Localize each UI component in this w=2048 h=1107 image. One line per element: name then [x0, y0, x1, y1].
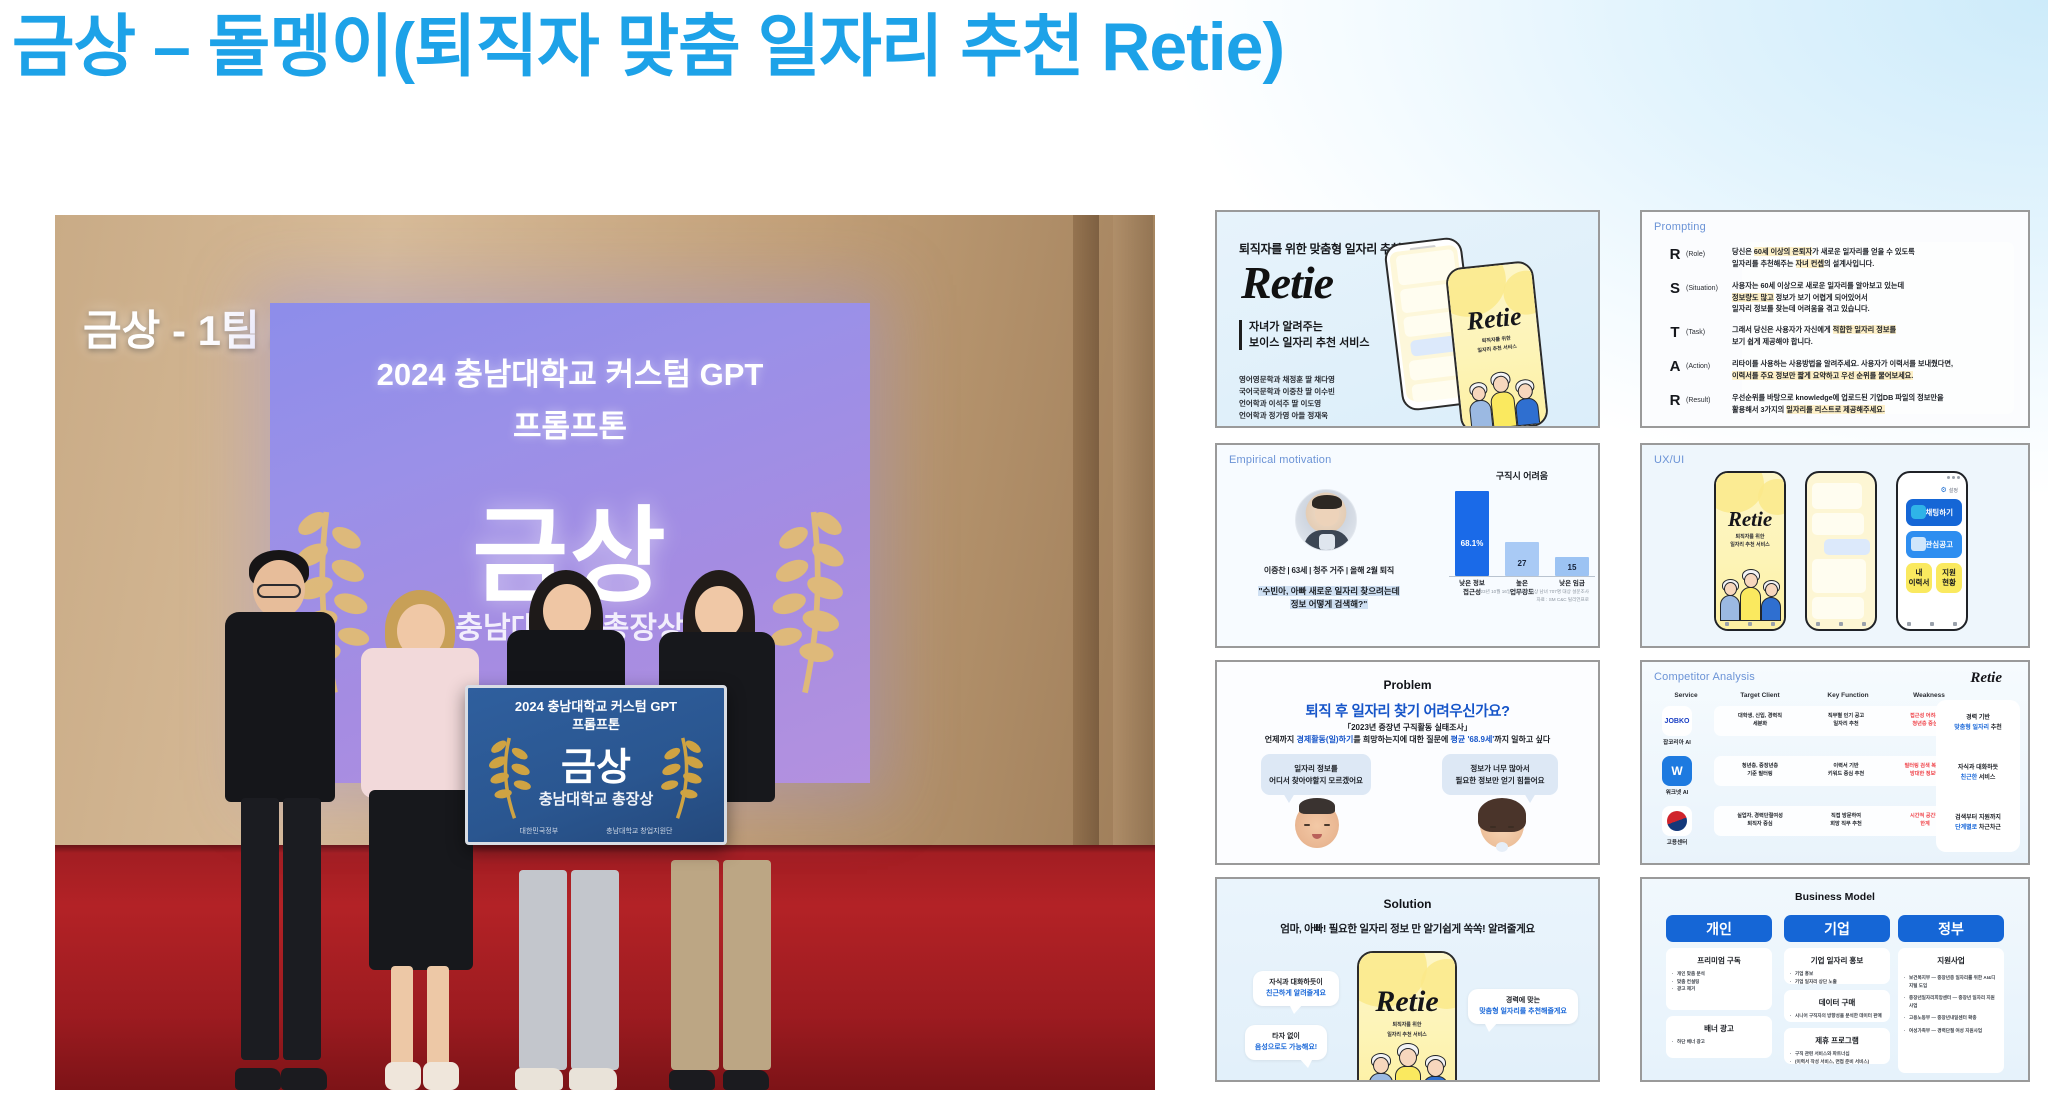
list-item: 하단 배너 광고: [1672, 1038, 1766, 1046]
slide-problem[interactable]: Problem 퇴직 후 일자리 찾기 어려우신가요? 「2023년 중장년 구…: [1215, 660, 1600, 865]
slide-solution[interactable]: Solution 엄마, 아빠! 필요한 일자리 정보 만 알기쉽게 쏙쏙! 알…: [1215, 877, 1600, 1082]
screen-line-1: 2024 충남대학교 커스텀 GPT: [270, 349, 870, 394]
app-sub-2: 일자리 추천 서비스: [1716, 541, 1784, 549]
bm-pill-company[interactable]: 기업: [1784, 915, 1890, 942]
award-placard: 2024 충남대학교 커스텀 GPT 프롬프톤 금상 충남대학교 총장상 대한민…: [465, 685, 727, 845]
bookmark-button[interactable]: 관심공고: [1906, 531, 1962, 558]
prompt-text: 리타이를 사용하는 사용방법을 알려주세요. 사용자가 이력서를 보내줬다면, …: [1732, 358, 1953, 381]
card-items: 개인 맞춤 분석 맞춤 컨설팅 광고 제거: [1672, 970, 1766, 993]
screen-line-2: 프롬프톤: [270, 401, 870, 446]
cover-headline: 퇴직자를 위한 맞춤형 일자리 추천: [1239, 240, 1402, 257]
list-item: 언어학과 정가영 아들 정재욱: [1239, 410, 1335, 422]
bm-card-support-programs: 지원사업 보건복지부 — 중장년층 일자리를 위한 AI&디지털 도입 중장년일…: [1898, 948, 2004, 1073]
list-item: 고용노동부 — 중장년내일센터 확충: [1904, 1014, 1998, 1022]
cover-accent-bar: [1239, 320, 1242, 350]
app-logo: Retie: [1716, 507, 1784, 532]
bm-card-banner-ads: 배너 광고 하단 배너 광고: [1666, 1016, 1772, 1058]
solution-bubble-1: 자식과 대화하듯이친근하게 알려줄게요: [1253, 971, 1339, 1006]
prompt-letter: S: [1664, 280, 1686, 297]
ux-phone-cover: Retie 퇴직자를 위한 일자리 추천 서비스: [1714, 471, 1786, 631]
column-header-service: Service: [1660, 692, 1712, 699]
problem-bubble-left: 일자리 정보를어디서 찾아야할지 모르겠어요: [1261, 754, 1371, 795]
chat-thread: [1812, 483, 1870, 617]
bm-pill-government[interactable]: 정부: [1898, 915, 2004, 942]
bar-value-1: 27: [1505, 559, 1539, 568]
prompt-text: 그래서 당신은 사용자가 자신에게 적합한 일자리 정보를 보기 쉽게 제공해야…: [1732, 324, 1896, 347]
problem-bubble-right: 정보가 너무 많아서필요한 정보만 얻기 힘들어요: [1442, 754, 1558, 795]
list-item: 기업 홍보: [1790, 970, 1884, 978]
retie-advantages: 경력 기반맞춤형 일자리 추천 자식과 대화하듯친근한 서비스 검색부터 지원까…: [1936, 700, 2020, 852]
placard-subtitle: 충남대학교 총장상: [468, 788, 724, 809]
app-logo: Retie: [1359, 985, 1455, 1019]
bar-1: 27 높은업무강도: [1505, 542, 1539, 576]
list-item: 보건복지부 — 중장년층 일자리를 위한 AI&디지털 도입: [1904, 974, 1998, 989]
slide-label: Prompting: [1654, 221, 1706, 233]
card-items: 시니어 구직자의 방향성을 분석한 데이터 판매: [1790, 1012, 1884, 1020]
card-items: 하단 배너 광고: [1672, 1038, 1766, 1046]
chat-button[interactable]: 채팅하기: [1906, 499, 1962, 526]
cell-function: 이력서 기반키워드 중심 추천: [1806, 763, 1886, 779]
bar-0: 68.1% 낮은 정보접근성: [1455, 491, 1489, 576]
chart-footnote: 23년 10월 16일, 만 60세 이상 남녀 707명 대상 설문조사 자료…: [1481, 588, 1590, 603]
advantage-1: 경력 기반맞춤형 일자리 추천: [1936, 714, 2020, 733]
slide-competitor-analysis[interactable]: Competitor Analysis Retie Service Target…: [1640, 660, 2030, 865]
bm-pill-individual[interactable]: 개인: [1666, 915, 1772, 942]
problem-finding: 언제까지 경제활동(일)하기를 희망하는지에 대한 질문에 평균 '68.9세'…: [1217, 734, 1598, 745]
resume-tile[interactable]: 내이력서: [1906, 563, 1932, 593]
bookmark-button-label: 관심공고: [1925, 539, 1953, 550]
card-title: 지원사업: [1904, 955, 1998, 966]
cell-target: 청년층, 중장년층기준 필터링: [1720, 763, 1800, 779]
bar-value-2: 15: [1555, 563, 1589, 572]
slide-business-model[interactable]: Business Model 개인 프리미엄 구독 개인 맞춤 분석 맞춤 컨설…: [1640, 877, 2030, 1082]
card-items: 기업 홍보 기업 일자리 상단 노출: [1790, 970, 1884, 985]
logo-worknet: W: [1662, 756, 1692, 786]
app-cover-card: Retie 퇴직자를 위한 일자리 추천 서비스: [1359, 953, 1455, 1082]
service-name-jobkorea: 잡코리아 AI: [1655, 738, 1699, 746]
phone-status-icons: [1947, 476, 1960, 479]
cell-target: 대학생, 신입, 경력직세분화: [1720, 713, 1800, 729]
list-item: (이력서 작성 서비스, 면접 준비 서비스): [1790, 1058, 1884, 1066]
service-name-worknet: 워크넷 AI: [1655, 788, 1699, 796]
quote-line-1: "수빈아, 아빠 새로운 일자리 찾으려는데: [1258, 586, 1401, 596]
prompt-row-role: R (Role) 당신은 60세 이상의 은퇴자가 새로운 일자리를 얻을 수 …: [1664, 246, 2020, 269]
bm-card-partnership: 제휴 프로그램 구직 관련 서비스와 파트너십 (이력서 작성 서비스, 면접 …: [1784, 1028, 1890, 1064]
phone-nav-bar: [1716, 620, 1784, 627]
cover-subtitle-line-1: 자녀가 알려주는: [1249, 320, 1370, 336]
bm-card-job-promotion: 기업 일자리 홍보 기업 홍보 기업 일자리 상단 노출: [1784, 948, 1890, 984]
grandparents-illustration: [1466, 366, 1544, 428]
card-items: 구직 관련 서비스와 파트너십 (이력서 작성 서비스, 면접 준비 서비스): [1790, 1050, 1884, 1065]
cover-member-list: 영어영문학과 채정훈 딸 채다영 국어국문학과 이중찬 딸 이수빈 언어학과 이…: [1239, 374, 1335, 423]
placard-logos: 대한민국정부 충남대학교 창업지원단: [468, 826, 724, 836]
prompt-row-situation: S (Situation) 사용자는 60세 이상으로 새로운 일자리를 알아보…: [1664, 280, 2020, 315]
bookmark-icon: [1911, 537, 1926, 551]
logo-employment-center: [1662, 806, 1692, 836]
ux-phone-home: ⚙ 설정 채팅하기 관심공고 내이력서 지원현황: [1896, 471, 1968, 631]
solution-bubble-2: 타자 없이음성으로도 가능해요!: [1245, 1025, 1327, 1060]
prompt-letter: T: [1664, 324, 1686, 341]
problem-label: Problem: [1217, 678, 1598, 692]
table-row: 대학생, 신입, 경력직세분화 직무별 인기 공고일자리 추천 접근성 어려움청…: [1714, 706, 1962, 736]
slide-cover[interactable]: 퇴직자를 위한 맞춤형 일자리 추천 Retie 자녀가 알려주는 보이스 일자…: [1215, 210, 1600, 428]
card-title: 제휴 프로그램: [1790, 1035, 1884, 1046]
award-ceremony-photo: 금상 - 1팀 / 부상 50만원: [55, 215, 1155, 1090]
prompt-text: 우선순위를 바탕으로 knowledge에 업로드된 기업DB 파일의 정보만을…: [1732, 392, 1944, 415]
settings-label: 설정: [1949, 487, 1958, 494]
prompt-letter: A: [1664, 358, 1686, 375]
chart-x-axis: [1449, 576, 1595, 577]
difficulty-bar-chart: 68.1% 낮은 정보접근성 27 높은업무강도 15 낮은 임금 23년 10…: [1449, 489, 1595, 599]
card-title: 데이터 구매: [1790, 997, 1884, 1008]
table-row: 실업자, 경력단절여성퇴직자 중심 직접 방문하여희망 직무 추천 시간적 공간…: [1714, 806, 1962, 836]
photo-wall-edge: [1113, 215, 1153, 845]
cover-subtitle: 자녀가 알려주는 보이스 일자리 추천 서비스: [1249, 320, 1370, 352]
prompt-letter: R: [1664, 246, 1686, 263]
chart-title: 구직시 어려움: [1447, 469, 1597, 482]
bm-card-data-purchase: 데이터 구매 시니어 구직자의 방향성을 분석한 데이터 판매: [1784, 990, 1890, 1022]
app-cover-card: Retie 퇴직자를 위한 일자리 추천 서비스: [1716, 473, 1784, 629]
chat-bubble: [1812, 559, 1866, 593]
app-sub-1: 퇴직자를 위한: [1716, 533, 1784, 541]
bm-column-company: 기업 기업 일자리 홍보 기업 홍보 기업 일자리 상단 노출 데이터 구매 시…: [1784, 915, 1890, 1064]
bm-column-government: 정부 지원사업 보건복지부 — 중장년층 일자리를 위한 AI&디지털 도입 중…: [1898, 915, 2004, 1073]
taegeuk-icon: [1667, 811, 1687, 831]
chat-bubble: [1812, 513, 1864, 535]
cover-app-phone: Retie 퇴직자를 위한 일자리 추천 서비스: [1445, 260, 1550, 428]
slide-empirical-motivation[interactable]: Empirical motivation 이중찬 | 63세 | 청주 거주 |…: [1215, 443, 1600, 648]
service-name-employment-center: 고용센터: [1655, 838, 1699, 846]
slide-label: Competitor Analysis: [1654, 671, 1755, 683]
advantage-2: 자식과 대화하듯친근한 서비스: [1936, 764, 2020, 783]
gear-icon[interactable]: ⚙: [1941, 486, 1947, 494]
solution-app-phone: Retie 퇴직자를 위한 일자리 추천 서비스: [1357, 951, 1457, 1082]
bar-2: 15 낮은 임금: [1555, 557, 1589, 576]
prompt-kind: (Result): [1686, 392, 1732, 404]
chat-bubble: [1824, 539, 1870, 555]
person-1: [205, 550, 355, 1090]
avatar: [1295, 489, 1357, 551]
solution-bubble-3: 경력에 맞는맞춤형 일자리를 추천해줄게요: [1468, 989, 1578, 1024]
logo-jobkorea: JOBKO: [1662, 706, 1692, 736]
advantage-3: 검색부터 지원까지단계별로 차근차근: [1936, 814, 2020, 833]
problem-headline: 퇴직 후 일자리 찾기 어려우신가요?: [1217, 700, 1598, 721]
application-status-tile[interactable]: 지원현황: [1936, 563, 1962, 593]
placard-line-2: 프롬프톤: [468, 714, 724, 733]
business-model-title: Business Model: [1642, 891, 2028, 903]
ux-phone-chat: [1805, 471, 1877, 631]
solution-label: Solution: [1217, 897, 1598, 911]
chat-bubble: [1812, 597, 1864, 619]
cell-target: 실업자, 경력단절여성퇴직자 중심: [1720, 813, 1800, 829]
solution-headline: 엄마, 아빠! 필요한 일자리 정보 만 알기쉽게 쏙쏙! 알려줄게요: [1217, 921, 1598, 936]
list-item: 개인 맞춤 분석: [1672, 970, 1766, 978]
list-item: 구직 관련 서비스와 파트너십: [1790, 1050, 1884, 1058]
memoji-confused-icon: [1295, 802, 1339, 848]
list-item: 광고 제거: [1672, 985, 1766, 993]
slide-prompting[interactable]: Prompting R (Role) 당신은 60세 이상의 은퇴자가 새로운 …: [1640, 210, 2030, 428]
list-item: 국어국문학과 이중찬 딸 이수빈: [1239, 386, 1335, 398]
card-items: 보건복지부 — 중장년층 일자리를 위한 AI&디지털 도입 중장년일자리희망센…: [1904, 974, 1998, 1034]
prompt-text: 당신은 60세 이상의 은퇴자가 새로운 일자리를 얻을 수 있도록 일자리를 …: [1732, 246, 1915, 269]
bar-value-0: 68.1%: [1455, 539, 1489, 548]
person-quote: "수빈아, 아빠 새로운 일자리 찾으려는데 정보 어떻게 검색해?": [1233, 585, 1425, 611]
cell-function: 직무별 인기 공고일자리 추천: [1806, 713, 1886, 729]
table-row: 청년층, 중장년층기준 필터링 이력서 기반키워드 중심 추천 필터링 검색 복…: [1714, 756, 1962, 786]
prompt-letter: R: [1664, 392, 1686, 409]
column-header-function: Key Function: [1808, 692, 1888, 699]
person-meta: 이중찬 | 63세 | 청주 거주 | 올해 2월 퇴직: [1239, 565, 1419, 576]
memoji-overwhelmed-icon: [1480, 802, 1524, 848]
slide-ux-ui[interactable]: UX/UI Retie 퇴직자를 위한 일자리 추천 서비스: [1640, 443, 2030, 648]
prompt-kind: (Action): [1686, 358, 1732, 370]
prompt-kind: (Role): [1686, 246, 1732, 258]
bm-card-premium: 프리미엄 구독 개인 맞춤 분석 맞춤 컨설팅 광고 제거: [1666, 948, 1772, 1010]
bm-column-individual: 개인 프리미엄 구독 개인 맞춤 분석 맞춤 컨설팅 광고 제거 배너 광고 하…: [1666, 915, 1772, 1058]
list-item: 맞춤 컨설팅: [1672, 978, 1766, 986]
prompt-kind: (Task): [1686, 324, 1732, 336]
card-title: 배너 광고: [1672, 1023, 1766, 1034]
grandparents-illustration: [1369, 1041, 1449, 1082]
prompt-row-task: T (Task) 그래서 당신은 사용자가 자신에게 적합한 일자리 정보를 보…: [1664, 324, 2020, 347]
phone-nav-bar: [1898, 620, 1966, 627]
chat-button-label: 채팅하기: [1925, 507, 1953, 518]
column-header-weakness: Weakness: [1894, 692, 1964, 699]
app-cover-card: Retie 퇴직자를 위한 일자리 추천 서비스: [1447, 262, 1547, 428]
slide-label: Empirical motivation: [1229, 454, 1331, 466]
prompt-row-result: R (Result) 우선순위를 바탕으로 knowledge에 업로드된 기업…: [1664, 392, 2020, 415]
slide-label: UX/UI: [1654, 454, 1684, 466]
cell-function: 직접 방문하여희망 직무 추천: [1806, 813, 1886, 829]
cover-logo: Retie: [1241, 256, 1333, 309]
page-title: 금상 – 돌멩이(퇴직자 맞춤 일자리 추천 Retie): [12, 2, 1284, 94]
placard-award-text: 금상: [468, 736, 724, 791]
list-item: 언어학과 이석주 딸 이도영: [1239, 398, 1335, 410]
chat-bubble: [1812, 483, 1862, 509]
card-title: 프리미엄 구독: [1672, 955, 1766, 966]
grandparents-illustration: [1722, 567, 1782, 621]
placard-logo-left: 대한민국정부: [520, 826, 559, 836]
list-item: 중장년일자리희망센터 — 중장년 일자리 지원사업: [1904, 994, 1998, 1009]
app-sub-1: 퇴직자를 위한: [1359, 1021, 1455, 1029]
prompt-text: 사용자는 60세 이상으로 새로운 일자리를 알아보고 있는데 정보량도 많고 …: [1732, 280, 1904, 315]
column-header-target: Target Client: [1720, 692, 1800, 699]
photo-wall-seam: [1073, 215, 1099, 845]
app-sub-2: 일자리 추천 서비스: [1359, 1031, 1455, 1039]
quote-line-2: 정보 어떻게 검색해?": [1290, 599, 1369, 609]
list-item: 시니어 구직자의 방향성을 분석한 데이터 판매: [1790, 1012, 1884, 1020]
prompt-kind: (Situation): [1686, 280, 1732, 292]
competitor-brand-logo: Retie: [1970, 670, 2002, 687]
list-item: 기업 일자리 상단 노출: [1790, 978, 1884, 986]
placard-logo-right: 충남대학교 창업지원단: [606, 826, 672, 836]
cover-subtitle-line-2: 보이스 일자리 추천 서비스: [1249, 336, 1370, 352]
phone-nav-bar: [1807, 620, 1875, 627]
chat-bot-icon: [1911, 505, 1926, 519]
card-title: 기업 일자리 홍보: [1790, 955, 1884, 966]
list-item: 여성가족부 — 경력단절 여성 지원사업: [1904, 1027, 1998, 1035]
list-item: 영어영문학과 채정훈 딸 채다영: [1239, 374, 1335, 386]
prompt-row-action: A (Action) 리타이를 사용하는 사용방법을 알려주세요. 사용자가 이…: [1664, 358, 2020, 381]
placard-line-1: 2024 충남대학교 커스텀 GPT: [468, 696, 724, 715]
problem-source: 「2023년 중장년 구직활동 실태조사」: [1217, 722, 1598, 733]
